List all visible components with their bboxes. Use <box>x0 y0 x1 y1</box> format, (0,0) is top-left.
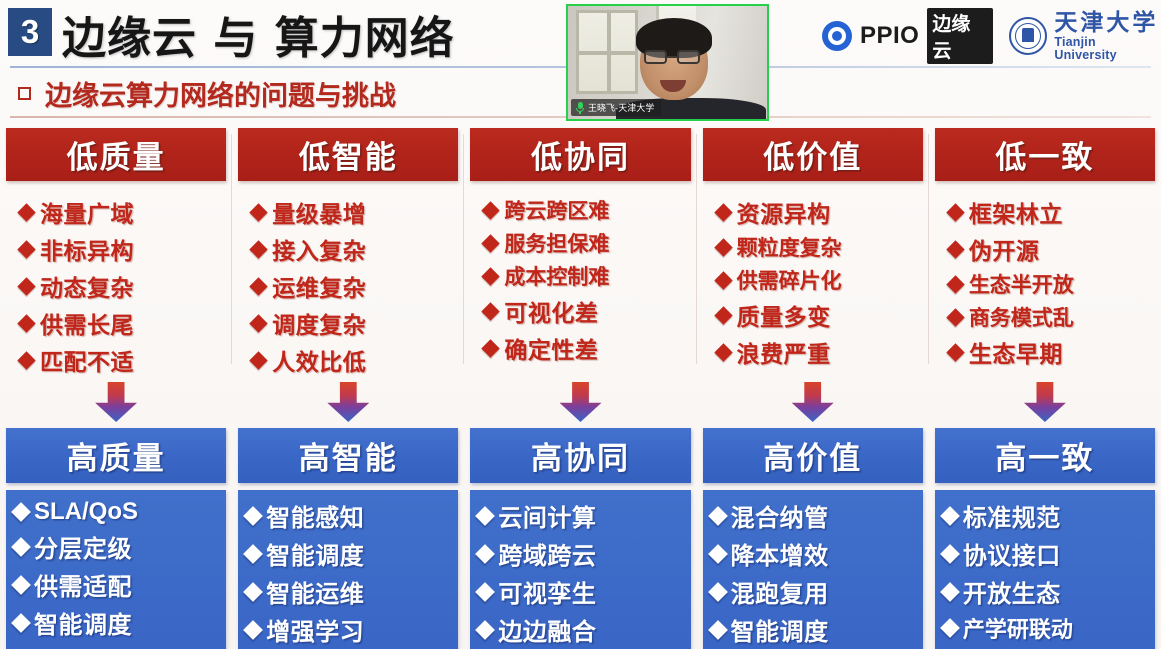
column-1: 低质量 海量广域 非标异构 动态复杂 供需长尾 匹配不适 高质量 SLA/QoS… <box>0 128 232 649</box>
problem-item-label: 非标异构 <box>40 232 134 266</box>
list-item: 非标异构 <box>20 232 226 266</box>
problem-item-label: 调度复杂 <box>272 306 366 340</box>
diamond-bullet-icon <box>940 506 960 526</box>
diamond-bullet-icon <box>940 582 960 602</box>
list-item: 跨域跨云 <box>478 536 684 571</box>
solution-title: 高协同 <box>531 433 630 478</box>
diamond-bullet-icon <box>11 502 31 522</box>
list-item: 颗粒度复杂 <box>717 232 923 262</box>
slide-number-badge: 3 <box>8 8 52 56</box>
diamond-bullet-icon <box>476 620 496 640</box>
list-item: 智能调度 <box>246 536 452 571</box>
problem-item-label: 人效比低 <box>272 343 366 377</box>
problem-item-label: 伪开源 <box>969 232 1040 266</box>
list-item: 标准规范 <box>943 498 1149 533</box>
list-item: SLA/QoS <box>14 498 220 526</box>
diamond-bullet-icon <box>714 343 732 361</box>
problem-item-label: 动态复杂 <box>40 269 134 303</box>
list-item: 资源异构 <box>717 195 923 229</box>
diamond-bullet-icon <box>482 234 500 252</box>
solution-item-label: 智能感知 <box>266 498 364 533</box>
down-arrow-icon <box>95 382 137 422</box>
solution-item-label: 智能运维 <box>266 574 364 609</box>
list-item: 产学研联动 <box>943 612 1149 644</box>
problem-item-label: 颗粒度复杂 <box>737 232 842 262</box>
list-item: 开放生态 <box>943 574 1149 609</box>
diamond-bullet-icon <box>476 582 496 602</box>
list-item: 生态半开放 <box>949 269 1155 299</box>
problem-item-label: 资源异构 <box>737 195 831 229</box>
diamond-bullet-icon <box>250 203 268 221</box>
list-item: 商务模式乱 <box>949 302 1155 332</box>
diamond-bullet-icon <box>946 343 964 361</box>
glasses-bridge <box>667 56 677 58</box>
participant-nameplate: 王晓飞-天津大学 <box>571 99 661 116</box>
column-3: 低协同 跨云跨区难 服务担保难 成本控制难 可视化差 确定性差 高协同 云间计算… <box>464 128 696 649</box>
list-item: 降本增效 <box>711 536 917 571</box>
solution-header-1: 高质量 <box>6 428 226 483</box>
down-arrow-icon <box>560 382 602 422</box>
problem-list-2: 量级暴增 接入复杂 运维复杂 调度复杂 人效比低 <box>238 195 458 377</box>
diamond-bullet-icon <box>708 582 728 602</box>
solution-list-5: 标准规范 协议接口 开放生态 产学研联动 <box>935 490 1155 649</box>
solution-item-label: 智能调度 <box>731 612 829 647</box>
diamond-bullet-icon <box>17 203 35 221</box>
diamond-bullet-icon <box>11 613 31 633</box>
tju-names: 天津大学 Tianjin University <box>1054 11 1161 61</box>
solution-title: 高价值 <box>763 433 862 478</box>
list-item: 匹配不适 <box>20 343 226 377</box>
diamond-bullet-icon <box>482 201 500 219</box>
problem-item-label: 海量广域 <box>40 195 134 229</box>
diamond-bullet-icon <box>940 544 960 564</box>
diamond-bullet-icon <box>714 238 732 256</box>
column-2: 低智能 量级暴增 接入复杂 运维复杂 调度复杂 人效比低 高智能 智能感知 智能… <box>232 128 464 649</box>
list-item: 动态复杂 <box>20 269 226 303</box>
problem-item-label: 跨云跨区难 <box>504 195 609 225</box>
solution-item-label: 混合纳管 <box>731 498 829 533</box>
diamond-bullet-icon <box>17 240 35 258</box>
list-item: 伪开源 <box>949 232 1155 266</box>
list-item: 智能调度 <box>711 612 917 647</box>
list-item: 增强学习 <box>246 612 452 647</box>
list-item: 调度复杂 <box>252 306 458 340</box>
problem-item-label: 成本控制难 <box>504 261 609 291</box>
diamond-bullet-icon <box>482 267 500 285</box>
problem-list-4: 资源异构 颗粒度复杂 供需碎片化 质量多变 浪费严重 <box>703 195 923 369</box>
problem-item-label: 质量多变 <box>737 298 831 332</box>
solution-list-4: 混合纳管 降本增效 混跑复用 智能调度 <box>703 490 923 649</box>
diamond-bullet-icon <box>250 351 268 369</box>
problem-solution-grid: 低质量 海量广域 非标异构 动态复杂 供需长尾 匹配不适 高质量 SLA/QoS… <box>0 128 1161 649</box>
arrow-wrap-2 <box>238 382 458 422</box>
diamond-bullet-icon <box>11 575 31 595</box>
problem-item-label: 商务模式乱 <box>969 302 1074 332</box>
list-item: 智能运维 <box>246 574 452 609</box>
diamond-bullet-icon <box>243 506 263 526</box>
arrow-wrap-3 <box>470 382 690 422</box>
problem-title: 低价值 <box>763 132 862 177</box>
arrow-wrap-4 <box>703 382 923 422</box>
problem-list-1: 海量广域 非标异构 动态复杂 供需长尾 匹配不适 <box>6 195 226 377</box>
diamond-bullet-icon <box>476 506 496 526</box>
column-5: 低一致 框架林立 伪开源 生态半开放 商务模式乱 生态早期 高一致 标准规范 协… <box>929 128 1161 649</box>
diamond-bullet-icon <box>714 203 732 221</box>
ppio-cn-badge: 边缘云 <box>927 8 993 64</box>
problem-item-label: 供需碎片化 <box>737 265 842 295</box>
problem-header-1: 低质量 <box>6 128 226 181</box>
list-item: 协议接口 <box>943 536 1149 571</box>
list-item: 量级暴增 <box>252 195 458 229</box>
diamond-bullet-icon <box>243 544 263 564</box>
problem-list-3: 跨云跨区难 服务担保难 成本控制难 可视化差 确定性差 <box>470 195 690 365</box>
diamond-bullet-icon <box>714 271 732 289</box>
list-item: 框架林立 <box>949 195 1155 229</box>
solution-item-label: 协议接口 <box>963 536 1061 571</box>
list-item: 边边融合 <box>478 612 684 647</box>
logo-bar: PPIO 边缘云 天津大学 Tianjin University <box>822 12 1161 60</box>
problem-header-2: 低智能 <box>238 128 458 181</box>
problem-item-label: 生态早期 <box>969 335 1063 369</box>
diamond-bullet-icon <box>243 620 263 640</box>
arrow-wrap-1 <box>6 382 226 422</box>
ppio-logo: PPIO 边缘云 <box>822 8 993 64</box>
diamond-bullet-icon <box>250 314 268 332</box>
solution-item-label: 智能调度 <box>34 605 132 640</box>
diamond-bullet-icon <box>708 544 728 564</box>
diamond-bullet-icon <box>946 308 964 326</box>
solution-item-label: 混跑复用 <box>731 574 829 609</box>
solution-item-label: 智能调度 <box>266 536 364 571</box>
list-item: 确定性差 <box>484 331 690 365</box>
page-title: 边缘云 与 算力网络 <box>62 2 455 66</box>
glasses-lens-left <box>644 50 667 64</box>
diamond-bullet-icon <box>482 339 500 357</box>
video-conference-panel[interactable]: 王晓飞-天津大学 <box>566 4 769 121</box>
solution-item-label: 标准规范 <box>963 498 1061 533</box>
diamond-bullet-icon <box>708 506 728 526</box>
down-arrow-icon <box>1024 382 1066 422</box>
participant-name: 王晓飞-天津大学 <box>588 101 654 114</box>
problem-header-3: 低协同 <box>470 128 690 181</box>
list-item: 海量广域 <box>20 195 226 229</box>
subtitle-row: 边缘云算力网络的问题与挑战 <box>18 74 396 113</box>
list-item: 分层定级 <box>14 529 220 564</box>
list-item: 运维复杂 <box>252 269 458 303</box>
list-item: 云间计算 <box>478 498 684 533</box>
window-frame-decor <box>576 10 638 94</box>
problem-item-label: 生态半开放 <box>969 269 1074 299</box>
diamond-bullet-icon <box>250 277 268 295</box>
list-item: 生态早期 <box>949 335 1155 369</box>
list-item: 可视孪生 <box>478 574 684 609</box>
list-item: 人效比低 <box>252 343 458 377</box>
list-item: 混跑复用 <box>711 574 917 609</box>
solution-item-label: 增强学习 <box>266 612 364 647</box>
problem-item-label: 可视化差 <box>504 294 598 328</box>
list-item: 接入复杂 <box>252 232 458 266</box>
list-item: 供需碎片化 <box>717 265 923 295</box>
solution-item-label: 产学研联动 <box>963 612 1073 644</box>
solution-item-label: 云间计算 <box>498 498 596 533</box>
diamond-bullet-icon <box>946 203 964 221</box>
problem-item-label: 框架林立 <box>969 195 1063 229</box>
solution-item-label: 边边融合 <box>498 612 596 647</box>
diamond-bullet-icon <box>708 620 728 640</box>
problem-header-5: 低一致 <box>935 128 1155 181</box>
solution-header-5: 高一致 <box>935 428 1155 483</box>
solution-header-2: 高智能 <box>238 428 458 483</box>
tju-name-cn: 天津大学 <box>1054 11 1161 34</box>
problem-item-label: 确定性差 <box>504 331 598 365</box>
problem-header-4: 低价值 <box>703 128 923 181</box>
diamond-bullet-icon <box>940 618 960 638</box>
list-item: 可视化差 <box>484 294 690 328</box>
solution-item-label: 分层定级 <box>34 529 132 564</box>
solution-list-3: 云间计算 跨域跨云 可视孪生 边边融合 <box>470 490 690 649</box>
list-item: 智能感知 <box>246 498 452 533</box>
list-item: 智能调度 <box>14 605 220 640</box>
diamond-bullet-icon <box>946 240 964 258</box>
solution-title: 高一致 <box>995 433 1094 478</box>
solution-header-3: 高协同 <box>470 428 690 483</box>
solution-title: 高智能 <box>299 433 398 478</box>
list-item: 服务担保难 <box>484 228 690 258</box>
square-bullet-icon <box>18 87 31 100</box>
problem-item-label: 供需长尾 <box>40 306 134 340</box>
list-item: 浪费严重 <box>717 335 923 369</box>
column-4: 低价值 资源异构 颗粒度复杂 供需碎片化 质量多变 浪费严重 高价值 混合纳管 … <box>697 128 929 649</box>
diamond-bullet-icon <box>11 537 31 557</box>
list-item: 质量多变 <box>717 298 923 332</box>
solution-list-2: 智能感知 智能调度 智能运维 增强学习 <box>238 490 458 649</box>
solution-item-label: 跨域跨云 <box>498 536 596 571</box>
diamond-bullet-icon <box>476 544 496 564</box>
speaker-glasses <box>644 50 704 65</box>
problem-item-label: 匹配不适 <box>40 343 134 377</box>
problem-title: 低一致 <box>995 132 1094 177</box>
problem-item-label: 服务担保难 <box>504 228 609 258</box>
solution-item-label: 可视孪生 <box>498 574 596 609</box>
arrow-wrap-5 <box>935 382 1155 422</box>
solution-item-label: SLA/QoS <box>34 498 138 526</box>
diamond-bullet-icon <box>714 306 732 324</box>
problem-item-label: 浪费严重 <box>737 335 831 369</box>
solution-item-label: 降本增效 <box>731 536 829 571</box>
problem-list-5: 框架林立 伪开源 生态半开放 商务模式乱 生态早期 <box>935 195 1155 369</box>
diamond-bullet-icon <box>482 302 500 320</box>
down-arrow-icon <box>327 382 369 422</box>
list-item: 成本控制难 <box>484 261 690 291</box>
list-item: 供需适配 <box>14 567 220 602</box>
problem-title: 低协同 <box>531 132 630 177</box>
ppio-wordmark: PPIO <box>860 22 919 50</box>
diamond-bullet-icon <box>250 240 268 258</box>
diamond-bullet-icon <box>946 275 964 293</box>
down-arrow-icon <box>792 382 834 422</box>
diamond-bullet-icon <box>243 582 263 602</box>
list-item: 跨云跨区难 <box>484 195 690 225</box>
problem-title: 低质量 <box>67 132 166 177</box>
solution-item-label: 开放生态 <box>963 574 1061 609</box>
tianjin-university-logo: 天津大学 Tianjin University <box>1009 11 1161 61</box>
problem-item-label: 接入复杂 <box>272 232 366 266</box>
solution-header-4: 高价值 <box>703 428 923 483</box>
microphone-icon <box>576 102 584 114</box>
page-subtitle: 边缘云算力网络的问题与挑战 <box>45 74 396 113</box>
problem-item-label: 量级暴增 <box>272 195 366 229</box>
list-item: 供需长尾 <box>20 306 226 340</box>
glasses-lens-right <box>677 50 700 64</box>
diamond-bullet-icon <box>17 277 35 295</box>
diamond-bullet-icon <box>17 314 35 332</box>
tianjin-university-seal-icon <box>1009 17 1047 55</box>
problem-title: 低智能 <box>299 132 398 177</box>
solution-title: 高质量 <box>67 433 166 478</box>
ppio-circle-logo-icon <box>822 21 852 51</box>
solution-list-1: SLA/QoS 分层定级 供需适配 智能调度 <box>6 490 226 649</box>
diamond-bullet-icon <box>17 351 35 369</box>
tju-name-en: Tianjin University <box>1054 36 1161 61</box>
list-item: 混合纳管 <box>711 498 917 533</box>
problem-item-label: 运维复杂 <box>272 269 366 303</box>
solution-item-label: 供需适配 <box>34 567 132 602</box>
